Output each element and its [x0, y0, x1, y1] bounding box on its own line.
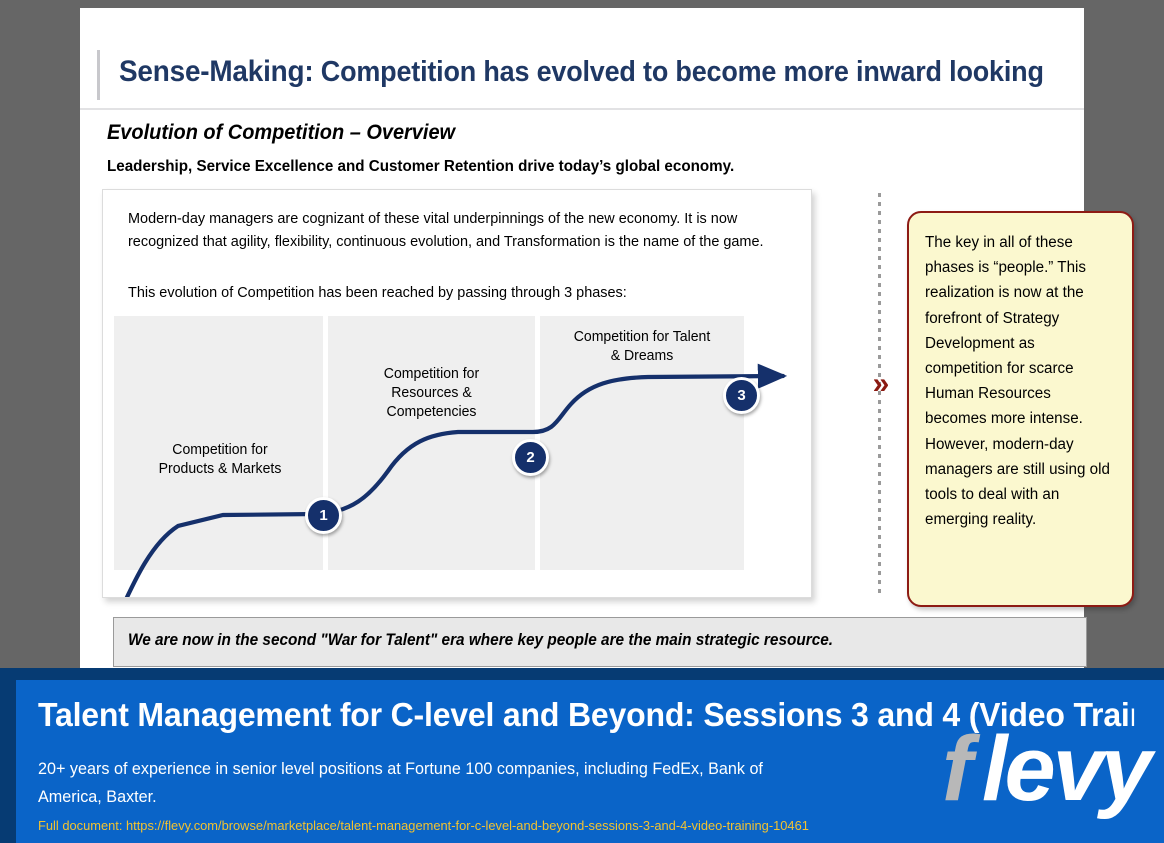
title-accent-bar	[97, 50, 100, 100]
flevy-logo-levy: levy	[982, 724, 1149, 814]
flevy-logo: f levy	[940, 724, 1155, 814]
key-insight-callout: The key in all of these phases is “peopl…	[907, 211, 1134, 607]
phase-label-line: Competition for Talent	[542, 328, 742, 347]
phase-label-line: Competition for	[332, 365, 531, 384]
callout-text: The key in all of these phases is “peopl…	[925, 230, 1116, 532]
double-chevron-right-icon: »	[866, 371, 896, 397]
slide-title-bar: Sense-Making: Competition has evolved to…	[80, 8, 1084, 108]
panel-paragraph-1: Modern-day managers are cognizant of the…	[128, 208, 772, 253]
phase-label-line: & Dreams	[542, 347, 742, 366]
diagram-panel: Modern-day managers are cognizant of the…	[102, 189, 812, 598]
phase-label-line: Products & Markets	[123, 460, 317, 479]
summary-statement-text: We are now in the second "War for Talent…	[128, 631, 1012, 650]
page-title-lead: Sense-Making:	[119, 55, 313, 88]
phase-label-line: Competencies	[332, 403, 531, 422]
phase-label-line: Resources &	[332, 384, 531, 403]
footer-document-link[interactable]: Full document: https://flevy.com/browse/…	[38, 818, 1028, 833]
phase-label-3: Competition for Talent& Dreams	[542, 328, 742, 366]
title-divider	[80, 108, 1084, 110]
panel-paragraph-2: This evolution of Competition has been r…	[128, 282, 781, 304]
section-title: Evolution of Competition – Overview	[107, 121, 455, 145]
phase-box-2	[328, 316, 535, 570]
summary-statement-box: We are now in the second "War for Talent…	[113, 617, 1087, 667]
section-subtitle: Leadership, Service Excellence and Custo…	[107, 158, 734, 176]
phase-label-line: Competition for	[123, 441, 317, 460]
page-title: Sense-Making: Competition has evolved to…	[119, 55, 984, 89]
phase-label-2: Competition forResources &Competencies	[332, 365, 531, 422]
flevy-logo-f: f	[942, 724, 970, 814]
footer-subtitle: 20+ years of experience in senior level …	[38, 755, 822, 811]
phase-marker-1: 1	[305, 497, 342, 534]
page-title-rest: Competition has evolved to become more i…	[313, 56, 1043, 88]
phase-marker-3: 3	[723, 377, 760, 414]
phase-label-1: Competition forProducts & Markets	[123, 441, 317, 479]
phase-marker-2: 2	[512, 439, 549, 476]
